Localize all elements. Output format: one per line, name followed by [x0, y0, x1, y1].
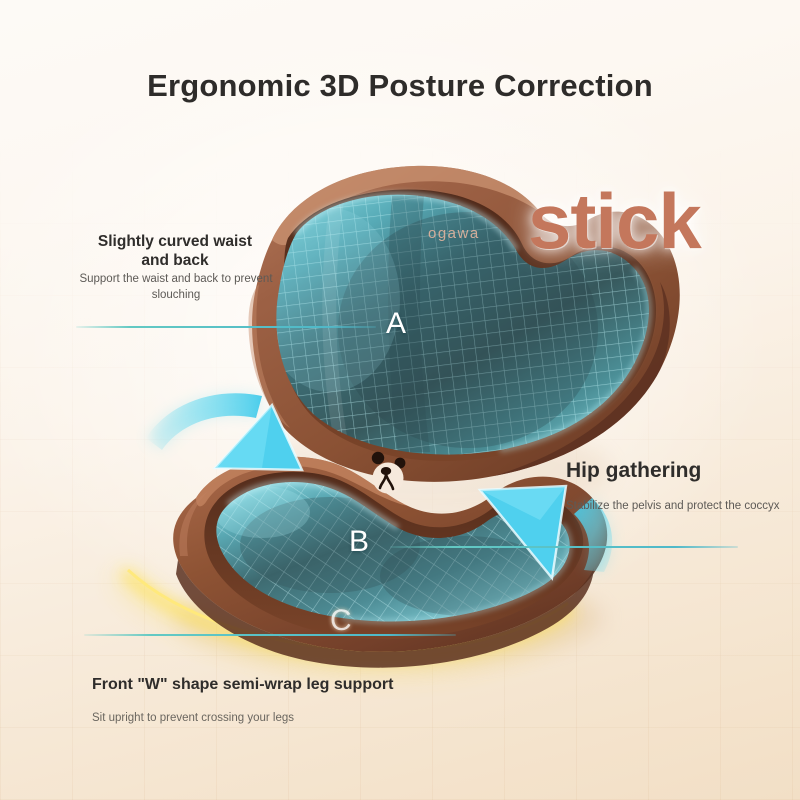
- poster-canvas: ogawa: [0, 0, 800, 800]
- brand-logo: ogawa: [428, 225, 480, 242]
- annotation-waist-title-line1: Slightly curved waist: [98, 233, 252, 250]
- leader-line-c: [84, 634, 456, 636]
- page-title: Ergonomic 3D Posture Correction: [0, 68, 800, 104]
- annotation-hip-subtitle: Stabilize the pelvis and protect the coc…: [566, 499, 786, 515]
- leader-line-a: [76, 326, 376, 328]
- leader-line-b: [390, 546, 738, 548]
- marker-label-c: C: [330, 604, 352, 638]
- annotation-waist-title: Slightly curved waist and back: [60, 232, 290, 271]
- annotation-waist-subtitle: Support the waist and back to prevent sl…: [56, 272, 296, 303]
- annotation-hip-title: Hip gathering: [566, 458, 776, 484]
- marker-label-b: B: [349, 525, 369, 559]
- annotation-waist-title-line2: and back: [141, 252, 208, 269]
- watermark-stick: stick: [528, 176, 701, 267]
- annotation-legs-title: Front "W" shape semi-wrap leg support: [92, 675, 393, 695]
- marker-label-a: A: [386, 307, 406, 341]
- annotation-legs-subtitle: Sit upright to prevent crossing your leg…: [92, 711, 294, 727]
